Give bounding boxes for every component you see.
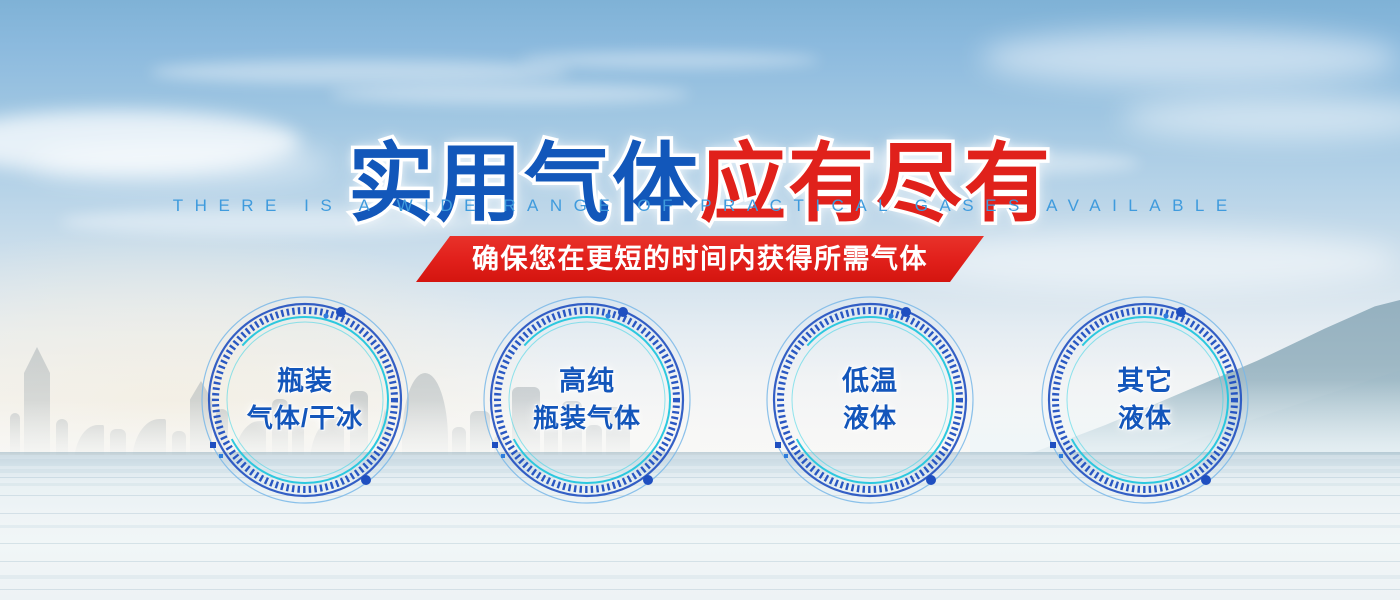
feature-circle-cryogenic-liquid[interactable]: 低温 液体: [770, 300, 970, 500]
ribbon-container: 确保您在更短的时间内获得所需气体: [0, 236, 1400, 282]
circle-label-line1: 瓶装: [277, 365, 333, 398]
circle-label-line1: 其它: [1117, 365, 1173, 398]
water-band: [0, 525, 1400, 528]
water-line: [0, 513, 1400, 514]
circle-label-line2: 瓶装气体: [533, 402, 641, 435]
circle-label-line2: 液体: [1118, 402, 1172, 435]
water-line: [0, 589, 1400, 590]
feature-circle-bottled-gas-dry-ice[interactable]: 瓶装 气体/干冰: [205, 300, 405, 500]
ribbon-text: 确保您在更短的时间内获得所需气体: [472, 236, 928, 282]
circle-label: 低温 液体: [770, 300, 970, 500]
circle-label: 高纯 瓶装气体: [487, 300, 687, 500]
circle-label-line1: 高纯: [559, 365, 615, 398]
circle-label-line2: 气体/干冰: [247, 402, 363, 435]
title-blue-part: 实用气体: [348, 136, 700, 232]
circle-label-line2: 液体: [843, 402, 897, 435]
circle-label: 其它 液体: [1045, 300, 1245, 500]
feature-circle-other-liquid[interactable]: 其它 液体: [1045, 300, 1245, 500]
title-red-part: 应有尽有: [700, 136, 1052, 232]
water-line: [0, 561, 1400, 562]
water-band: [0, 575, 1400, 579]
subtitle-english: THERE IS A WIDE RANGE OF PRACTICAL GASES…: [0, 196, 1400, 216]
feature-circle-list: 瓶装 气体/干冰 高纯 瓶装气体: [0, 300, 1400, 510]
promo-banner: 实用气体应有尽有 THERE IS A WIDE RANGE OF PRACTI…: [0, 0, 1400, 600]
page-title: 实用气体应有尽有: [0, 134, 1400, 234]
red-ribbon: 确保您在更短的时间内获得所需气体: [416, 236, 984, 282]
circle-label-line1: 低温: [842, 365, 898, 398]
feature-circle-high-purity-bottled-gas[interactable]: 高纯 瓶装气体: [487, 300, 687, 500]
circle-label: 瓶装 气体/干冰: [205, 300, 405, 500]
water-line: [0, 543, 1400, 544]
